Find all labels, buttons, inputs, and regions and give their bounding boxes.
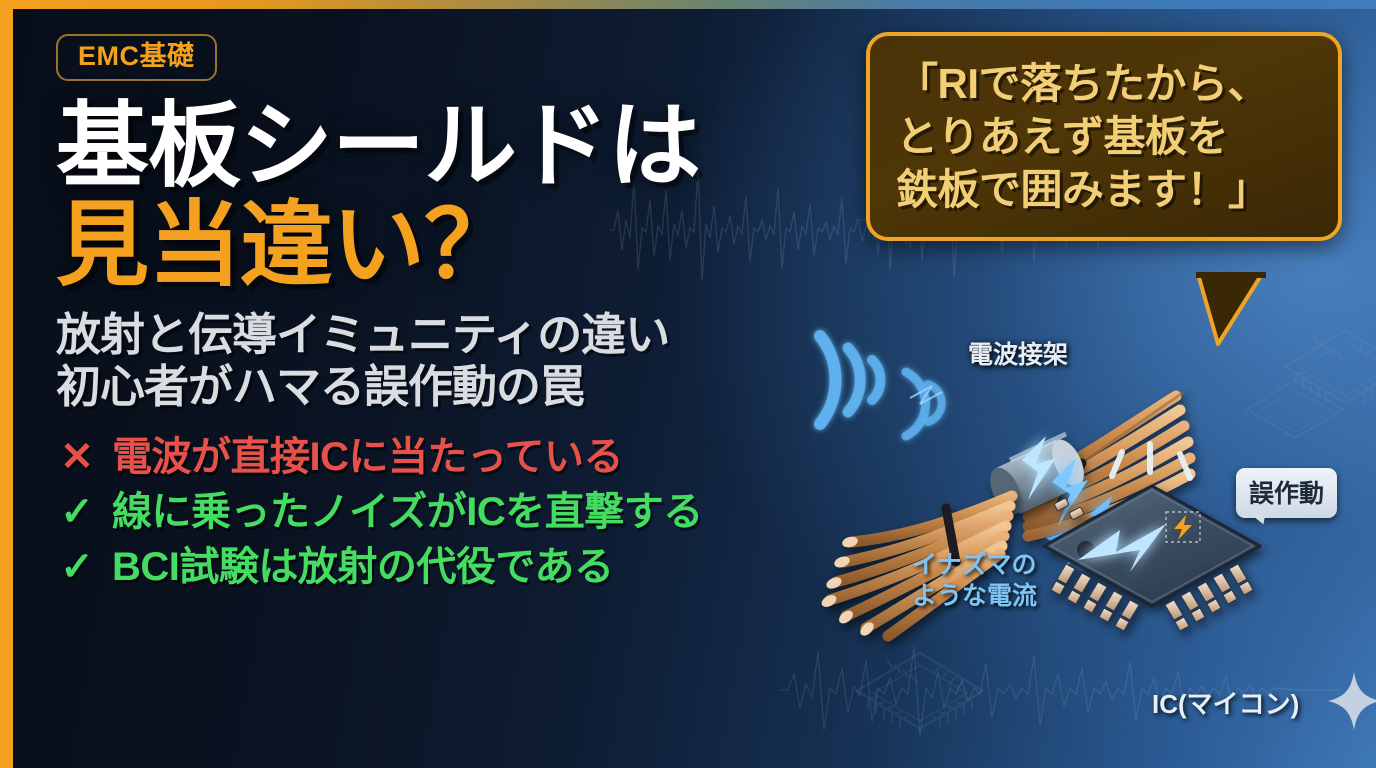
check-icon: ✓ [56,492,98,532]
cross-icon: ✕ [56,437,98,477]
thumbnail-canvas: EMC基礎 基板シールドは 見当違い？ 放射と伝導イミュニティの違い 初心者がハ… [0,0,1376,768]
malfunction-tag: 誤作動 [1236,468,1337,518]
speech-bubble-body: 「RIで落ちたから、 とりあえず基板を 鉄板で囲みます！」 [866,32,1342,241]
list-item: ✓ 線に乗ったノイズがICを直撃する [56,488,846,537]
headline-column: EMC基礎 基板シールドは 見当違い？ 放射と伝導イミュニティの違い 初心者がハ… [56,34,846,597]
sparkle-icon [1326,670,1376,732]
page-title: 基板シールドは 見当違い？ [56,99,846,293]
list-item: ✕ 電波が直接ICに当たっている [56,433,846,482]
check-icon: ✓ [56,547,98,587]
label-current: イナズマの ような電流 [912,550,1037,611]
subtitle-line-2: 初心者がハマる誤作動の罠 [56,361,846,413]
illustration-area: 電波接架 イナズマの ような電流 IC(マイコン) 誤作動 [760,300,1376,768]
speech-bubble-tail-icon [1196,272,1266,346]
left-accent-bar [0,0,13,768]
quote-speech-bubble: 「RIで落ちたから、 とりあえず基板を 鉄板で囲みます！」 [866,32,1342,241]
subtitle-line-1: 放射と伝導イミュニティの違い [56,309,846,361]
category-badge: EMC基礎 [56,34,217,81]
subtitle-block: 放射と伝導イミュニティの違い 初心者がハマる誤作動の罠 [56,309,846,413]
bullet-text: 電波が直接ICに当たっている [112,433,623,482]
label-radio-wave: 電波接架 [968,335,1068,371]
quote-line-1: 「RIで落ちたから、 [896,58,1316,111]
quote-line-3: 鉄板で囲みます！」 [896,164,1316,217]
label-current-line-1: イナズマの [912,550,1037,581]
top-accent-bar [0,0,1376,9]
list-item: ✓ BCI試験は放射の代役である [56,543,846,592]
title-line-2: 見当違い？ [56,198,846,293]
bullet-text: 線に乗ったノイズがICを直撃する [112,488,703,537]
label-current-line-2: ような電流 [912,581,1037,612]
label-ic: IC(マイコン) [1152,684,1299,721]
bullet-list: ✕ 電波が直接ICに当たっている ✓ 線に乗ったノイズがICを直撃する ✓ BC… [56,433,846,591]
quote-line-2: とりあえず基板を [896,111,1316,164]
bullet-text: BCI試験は放射の代役である [112,543,614,592]
title-line-1: 基板シールドは [56,99,846,194]
